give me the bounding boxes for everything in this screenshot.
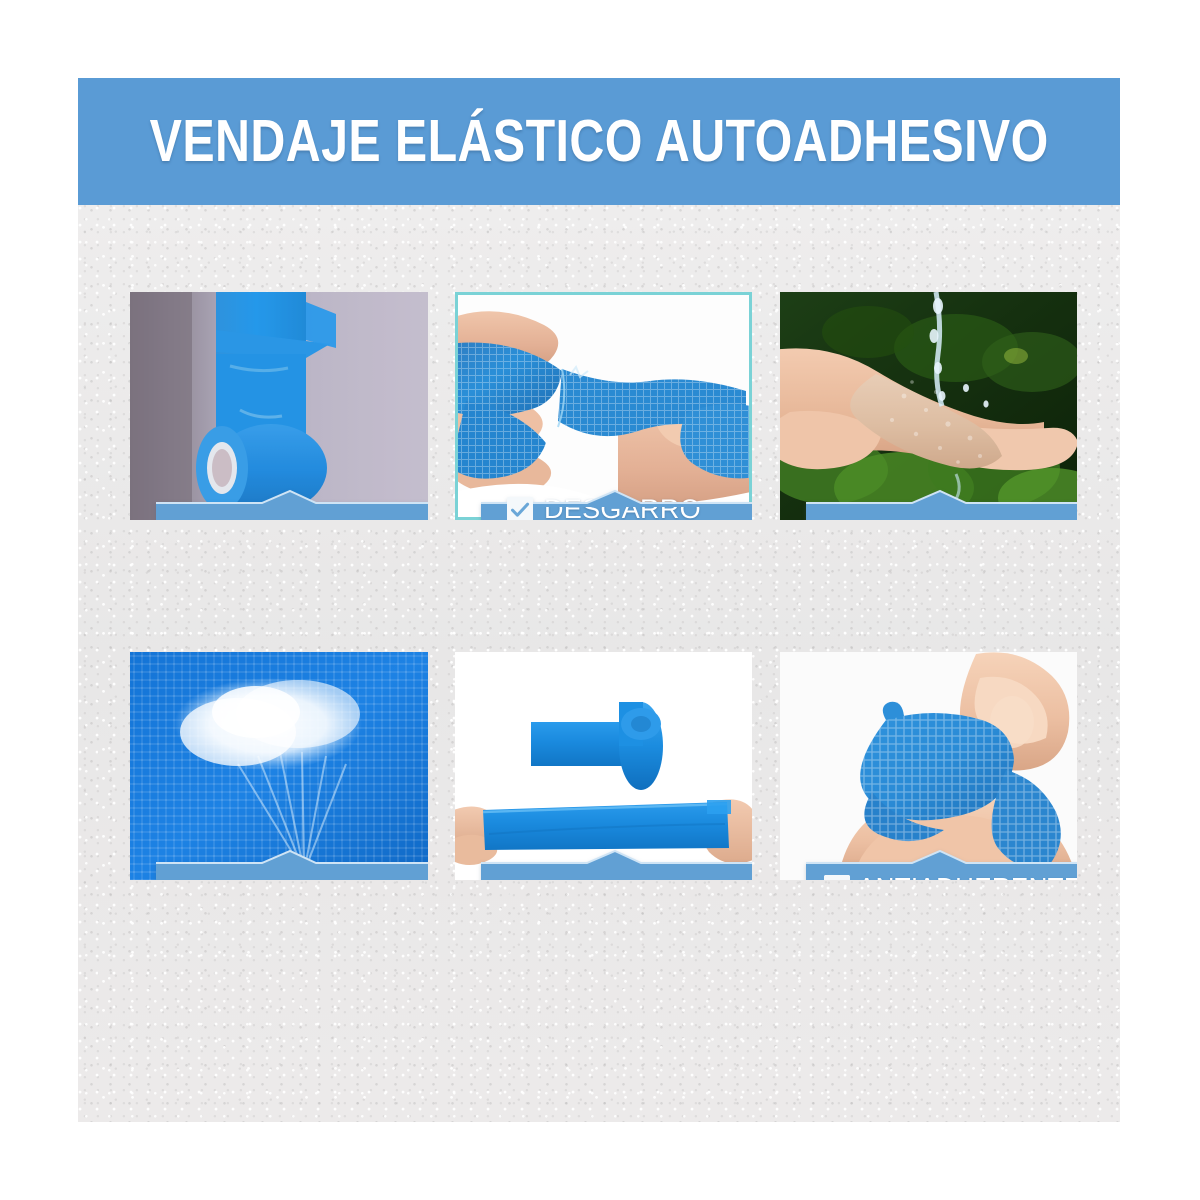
- photo-artwork: [780, 652, 1077, 880]
- photo-bandaged-finger-under-water: [780, 292, 1077, 520]
- feature-label-desgarro-facil-a-mano: DESGARRO FÁCIL A MANO: [481, 506, 752, 520]
- checkbox-checked-icon: [507, 497, 533, 520]
- photo-bandage-roll-unrolling: [130, 292, 428, 520]
- product-infographic: VENDAJE ELÁSTICO AUTOADHESIVO: [0, 0, 1200, 1200]
- photo-peeling-bandage-from-skin: [780, 652, 1077, 880]
- feature-tile-estirable: ESTIRABLE: [455, 652, 752, 880]
- feature-label-impermeable: IMPERMEABLE: [806, 506, 1077, 520]
- checkbox-checked-icon: [824, 875, 850, 880]
- photo-air-vapor-through-fabric: [130, 652, 428, 880]
- photo-artwork: [455, 652, 752, 880]
- feature-label-text: DESGARRO FÁCIL A MANO: [544, 494, 752, 520]
- photo-artwork: [130, 652, 428, 880]
- feature-label-respirable: RESPIRABLE: [156, 866, 428, 880]
- feature-label-text: ANTIADHERENTE AL CABELLO: [858, 872, 1077, 880]
- feature-label-autoadhesivo: AUTOADHESIVO: [156, 506, 428, 520]
- feature-tile-autoadhesivo: AUTOADHESIVO: [130, 292, 428, 520]
- photo-artwork: [458, 295, 752, 520]
- feature-label-estirable: ESTIRABLE: [481, 866, 752, 880]
- feature-tile-desgarro-facil-a-mano: DESGARRO FÁCIL A MANO: [455, 292, 752, 520]
- photo-artwork: [780, 292, 1077, 520]
- page-title: VENDAJE ELÁSTICO AUTOADHESIVO: [150, 112, 1049, 171]
- header-banner: VENDAJE ELÁSTICO AUTOADHESIVO: [78, 78, 1120, 205]
- feature-tile-impermeable: IMPERMEABLE: [780, 292, 1077, 520]
- photo-hands-tearing-bandage: [455, 292, 752, 520]
- feature-tile-respirable: RESPIRABLE: [130, 652, 428, 880]
- photo-bandage-roll-and-stretched-strip: [455, 652, 752, 880]
- photo-artwork: [130, 292, 428, 520]
- feature-tile-antiadherente-al-cabello: ANTIADHERENTE AL CABELLO: [780, 652, 1077, 880]
- feature-label-antiadherente-al-cabello: ANTIADHERENTE AL CABELLO: [806, 866, 1077, 880]
